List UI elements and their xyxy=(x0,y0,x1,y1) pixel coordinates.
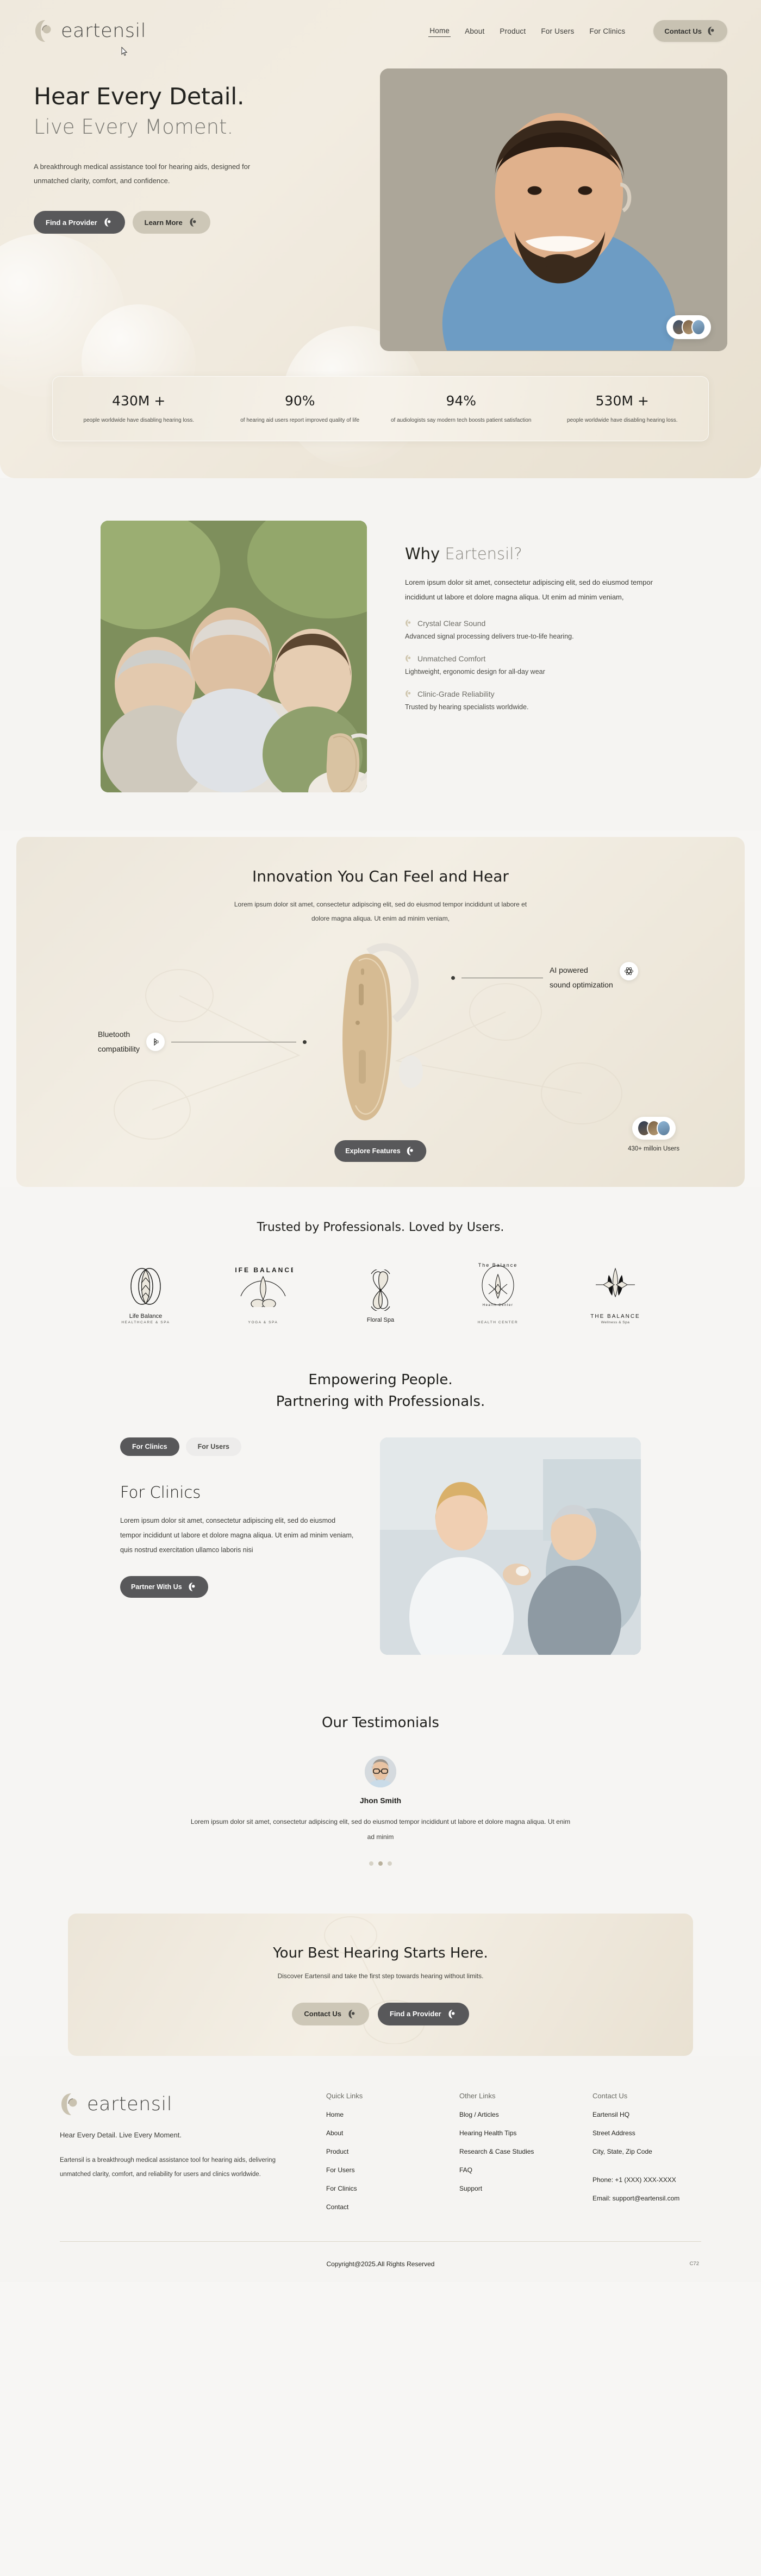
stat-label: of audiologists say modern tech boosts p… xyxy=(387,415,535,426)
footer-link-research-case-studies[interactable]: Research & Case Studies xyxy=(459,2148,565,2155)
leader-dot xyxy=(451,976,455,980)
brand-logo-row: Life Balance HEALTHCARE & SPA LIFE BALAN… xyxy=(0,1260,761,1324)
empowering-body: For Clinics For Users For Clinics Lorem … xyxy=(0,1437,761,1655)
why-title-light: Eartensil? xyxy=(445,545,522,563)
footer-contact-hq: Eartensil HQ xyxy=(592,2111,698,2118)
footer-page-code: C72 xyxy=(690,2261,699,2267)
testimonial-author-name: Jhon Smith xyxy=(0,1796,761,1805)
floral-spa-butterfly-logo-icon xyxy=(359,1270,402,1311)
audience-tabs: For Clinics For Users xyxy=(120,1437,354,1456)
empowering-heading: Empowering People. Partnering with Profe… xyxy=(0,1369,761,1413)
footer-link-for-users[interactable]: For Users xyxy=(326,2166,432,2174)
brand-name: Floral Spa xyxy=(345,1317,416,1323)
the-balance-flower-logo-icon xyxy=(592,1267,638,1308)
find-a-provider-label: Find a Provider xyxy=(46,218,97,227)
logo[interactable]: eartensil xyxy=(34,18,146,43)
hero-body: Hear Every Detail. Live Every Moment. A … xyxy=(0,43,761,351)
partner-with-us-button[interactable]: Partner With Us xyxy=(120,1576,208,1598)
empowering-heading-line1: Empowering People. xyxy=(308,1372,452,1388)
footer-contact-email[interactable]: Email: support@eartensil.com xyxy=(592,2194,698,2202)
footer-link-product[interactable]: Product xyxy=(326,2148,432,2155)
page-footer: eartensil Hear Every Detail. Live Every … xyxy=(0,2056,761,2282)
eartensil-ear-logo-icon xyxy=(707,26,716,36)
footer-column-heading: Quick Links xyxy=(326,2092,432,2100)
avatar xyxy=(691,319,706,335)
nav-item-for-users[interactable]: For Users xyxy=(540,26,575,37)
footer-column-heading: Other Links xyxy=(459,2092,565,2100)
testimonial-quote: Lorem ipsum dolor sit amet, consectetur … xyxy=(190,1815,571,1845)
explore-features-button[interactable]: Explore Features xyxy=(334,1140,426,1162)
carousel-dots xyxy=(0,1861,761,1866)
eartensil-ear-logo-icon xyxy=(188,1582,197,1592)
cta-zone: Your Best Hearing Starts Here. Discover … xyxy=(0,1895,761,2056)
brand-logo-item: THE BALANCE Wellness & Spa xyxy=(580,1267,651,1324)
callout-bluetooth-text: Bluetooth compatibility xyxy=(98,1027,140,1057)
innovation-section: Innovation You Can Feel and Hear Lorem i… xyxy=(16,837,745,1187)
eartensil-ear-logo-icon xyxy=(405,690,413,698)
bluetooth-chip xyxy=(146,1033,165,1051)
cta-contact-us-button[interactable]: Contact Us xyxy=(292,2003,369,2025)
innovation-heading: Innovation You Can Feel and Hear xyxy=(16,867,745,885)
brand-logo-item: The Balance Health Center The Balance HE… xyxy=(463,1260,533,1324)
eartensil-ear-logo-icon xyxy=(405,619,413,627)
brand-name: THE BALANCE xyxy=(580,1314,651,1320)
stat-value: 430M + xyxy=(65,393,213,409)
stat-label: people worldwide have disabling hearing … xyxy=(65,415,213,426)
why-title: Why Eartensil? xyxy=(405,545,660,563)
why-feature-title: Clinic-Grade Reliability xyxy=(417,690,495,698)
innovation-stage: Bluetooth compatibility AI powered sound… xyxy=(16,930,745,1164)
hero-buttons: Find a Provider Learn More xyxy=(34,211,359,234)
stat-value: 94% xyxy=(387,393,535,409)
cta-subtext: Discover Eartensil and take the first st… xyxy=(68,1972,693,1980)
footer-link-support[interactable]: Support xyxy=(459,2185,565,2192)
avatar xyxy=(657,1120,671,1136)
footer-contact-city: City, State, Zip Code xyxy=(592,2148,698,2155)
why-feature-head: Clinic-Grade Reliability xyxy=(405,690,660,698)
why-feature-desc: Lightweight, ergonomic design for all-da… xyxy=(405,668,660,676)
users-badge: 430+ milloin Users xyxy=(628,1117,679,1152)
footer-copyright: Copyright@2025.All Rights Reserved xyxy=(327,2260,435,2268)
testimonial-author-photo xyxy=(365,1756,396,1787)
footer-link-faq[interactable]: FAQ xyxy=(459,2166,565,2174)
svg-text:The Balance: The Balance xyxy=(478,1262,518,1268)
testimonials-heading: Our Testimonials xyxy=(0,1715,761,1731)
footer-tagline: Hear Every Detail. Live Every Moment. xyxy=(60,2131,299,2139)
carousel-dot[interactable] xyxy=(369,1861,373,1866)
tab-for-users[interactable]: For Users xyxy=(186,1437,241,1456)
why-title-strong: Why xyxy=(405,545,445,563)
cta-contact-us-label: Contact Us xyxy=(304,2010,341,2018)
cta-find-a-provider-button[interactable]: Find a Provider xyxy=(378,2003,469,2025)
eartensil-ear-logo-icon xyxy=(348,2009,357,2019)
why-paragraph: Lorem ipsum dolor sit amet, consectetur … xyxy=(405,575,660,605)
footer-brand-block: eartensil Hear Every Detail. Live Every … xyxy=(60,2092,299,2211)
stat-value: 90% xyxy=(226,393,375,409)
clinic-consultation-photo xyxy=(380,1437,641,1655)
ai-chip xyxy=(620,962,638,980)
eartensil-ear-logo-icon xyxy=(407,1146,416,1156)
stat-value: 530M + xyxy=(548,393,697,409)
hero-section: eartensil Home About Product For Users F… xyxy=(0,0,761,478)
users-caption: 430+ milloin Users xyxy=(628,1146,679,1152)
callout-ai-line1: AI powered xyxy=(550,963,613,978)
footer-column-other-links: Other Links Blog / Articles Hearing Heal… xyxy=(459,2092,565,2211)
footer-logo[interactable]: eartensil xyxy=(60,2092,299,2117)
why-feature-head: Crystal Clear Sound xyxy=(405,619,660,628)
life-balance-leaf-logo-icon xyxy=(126,1266,166,1307)
eartensil-ear-logo-icon xyxy=(104,217,113,227)
trusted-heading: Trusted by Professionals. Loved by Users… xyxy=(0,1221,761,1234)
hero-portrait-photo xyxy=(380,68,727,351)
explore-features-label: Explore Features xyxy=(345,1147,400,1155)
why-feature-title: Unmatched Comfort xyxy=(417,654,485,663)
innovation-subtitle: Lorem ipsum dolor sit amet, consectetur … xyxy=(228,897,533,926)
why-feature-head: Unmatched Comfort xyxy=(405,654,660,663)
brand-logo-item: LIFE BALANCE LIFE BALANCE YOGA & SPA xyxy=(228,1260,298,1324)
footer-link-contact[interactable]: Contact xyxy=(326,2203,432,2211)
empowering-heading-line2: Partnering with Professionals. xyxy=(276,1393,485,1410)
svg-text:LIFE BALANCE: LIFE BALANCE xyxy=(233,1266,293,1274)
smiling-man-photo xyxy=(380,68,727,351)
top-navbar: eartensil Home About Product For Users F… xyxy=(0,0,761,43)
learn-more-label: Learn More xyxy=(145,218,183,227)
hero-avatar-group xyxy=(666,315,711,339)
footer-column-quick-links: Quick Links Home About Product For Users… xyxy=(326,2092,432,2211)
logo-text: eartensil xyxy=(61,20,146,42)
stat-item: 530M + people worldwide have disabling h… xyxy=(542,393,703,426)
brand-name: Life Balance xyxy=(110,1313,181,1320)
nav-item-about[interactable]: About xyxy=(464,26,485,37)
footer-link-hearing-health-tips[interactable]: Hearing Health Tips xyxy=(459,2129,565,2137)
tab-for-clinics[interactable]: For Clinics xyxy=(120,1437,179,1456)
callout-ai: AI powered sound optimization xyxy=(451,963,638,993)
why-section: Why Eartensil? Lorem ipsum dolor sit ame… xyxy=(0,478,761,830)
life-balance-arch-logo-icon: LIFE BALANCE xyxy=(233,1260,293,1307)
hearing-aid-product-image xyxy=(304,936,457,1142)
brand-sub: HEALTHCARE & SPA xyxy=(110,1321,181,1324)
leader-line xyxy=(461,978,543,978)
footer-link-blog-articles[interactable]: Blog / Articles xyxy=(459,2111,565,2118)
ai-atom-icon xyxy=(624,966,634,976)
brand-sub: HEALTH CENTER xyxy=(463,1321,533,1324)
stat-item: 90% of hearing aid users report improved… xyxy=(220,393,381,426)
why-feature-title: Crystal Clear Sound xyxy=(417,619,485,628)
footer-link-for-clinics[interactable]: For Clinics xyxy=(326,2185,432,2192)
partner-with-us-label: Partner With Us xyxy=(131,1583,182,1591)
trusted-logos-section: Trusted by Professionals. Loved by Users… xyxy=(0,1187,761,1341)
svg-text:Health Center: Health Center xyxy=(483,1304,514,1307)
panel-title: For Clinics xyxy=(120,1483,354,1502)
hero-heading: Hear Every Detail. xyxy=(34,84,359,111)
nav-links: Home About Product For Users For Clinics… xyxy=(428,20,727,42)
hero-paragraph: A breakthrough medical assistance tool f… xyxy=(34,160,251,188)
users-avatar-group xyxy=(632,1117,676,1140)
callout-bluetooth-line1: Bluetooth xyxy=(98,1027,140,1042)
callout-ai-text: AI powered sound optimization xyxy=(550,963,613,993)
footer-logo-text: eartensil xyxy=(87,2093,172,2115)
why-feature: Clinic-Grade Reliability Trusted by hear… xyxy=(405,690,660,711)
footer-description: Eartensil is a breakthrough medical assi… xyxy=(60,2153,283,2182)
footer-columns: eartensil Hear Every Detail. Live Every … xyxy=(0,2092,761,2211)
footer-column-contact: Contact Us Eartensil HQ Street Address C… xyxy=(592,2092,698,2211)
callout-ai-line2: sound optimization xyxy=(550,978,613,992)
bluetooth-icon xyxy=(151,1037,160,1046)
contact-us-button[interactable]: Contact Us xyxy=(653,20,727,42)
eartensil-ear-logo-icon xyxy=(34,18,57,43)
mouse-cursor-icon xyxy=(121,47,128,57)
stat-item: 94% of audiologists say modern tech boos… xyxy=(380,393,542,426)
why-feature: Crystal Clear Sound Advanced signal proc… xyxy=(405,619,660,640)
stat-label: people worldwide have disabling hearing … xyxy=(548,415,697,426)
contact-us-label: Contact Us xyxy=(664,27,702,35)
find-a-provider-button[interactable]: Find a Provider xyxy=(34,211,125,234)
footer-contact-street: Street Address xyxy=(592,2129,698,2137)
hearing-aid-device-icon xyxy=(295,706,367,792)
brand-sub: YOGA & SPA xyxy=(228,1321,298,1324)
panel-text: Lorem ipsum dolor sit amet, consectetur … xyxy=(120,1514,354,1558)
stat-item: 430M + people worldwide have disabling h… xyxy=(58,393,220,426)
footer-column-heading: Contact Us xyxy=(592,2092,698,2100)
carousel-dot[interactable] xyxy=(388,1861,392,1866)
eartensil-ear-logo-icon xyxy=(189,217,198,227)
cta-section: Your Best Hearing Starts Here. Discover … xyxy=(68,1914,693,2056)
footer-bottom-bar: Copyright@2025.All Rights Reserved C72 xyxy=(0,2242,761,2282)
learn-more-button[interactable]: Learn More xyxy=(133,211,210,234)
eartensil-ear-logo-icon xyxy=(60,2092,83,2117)
why-feature-desc: Advanced signal processing delivers true… xyxy=(405,633,660,640)
testimonials-section: Our Testimonials Jhon Smith Lorem ipsum … xyxy=(0,1677,761,1895)
why-content: Why Eartensil? Lorem ipsum dolor sit ame… xyxy=(405,521,660,792)
brand-logo-item: Floral Spa xyxy=(345,1270,416,1324)
why-feature-desc: Trusted by hearing specialists worldwide… xyxy=(405,703,660,711)
nav-item-product[interactable]: Product xyxy=(498,26,527,37)
hero-subheading: Live Every Moment. xyxy=(34,115,359,139)
empowering-section: Empowering People. Partnering with Profe… xyxy=(0,1341,761,1677)
cta-buttons: Contact Us Find a Provider xyxy=(68,2003,693,2025)
hero-copy: Hear Every Detail. Live Every Moment. A … xyxy=(34,68,359,351)
eartensil-ear-logo-icon xyxy=(405,654,413,662)
why-family-photo xyxy=(101,521,367,792)
callout-bluetooth: Bluetooth compatibility xyxy=(98,1027,307,1057)
footer-link-home[interactable]: Home xyxy=(326,2111,432,2118)
brand-sub: Wellness & Spa xyxy=(580,1321,651,1324)
empowering-panel: For Clinics For Users For Clinics Lorem … xyxy=(120,1437,354,1655)
brand-logo-item: Life Balance HEALTHCARE & SPA xyxy=(110,1266,181,1324)
leader-dot xyxy=(303,1040,307,1044)
the-balance-circle-logo-icon: The Balance Health Center xyxy=(475,1260,521,1307)
leader-line xyxy=(171,1042,296,1042)
stat-label: of hearing aid users report improved qua… xyxy=(226,415,375,426)
testimonial-avatar xyxy=(365,1756,396,1787)
clinician-with-patient-photo xyxy=(380,1437,641,1655)
nav-item-home[interactable]: Home xyxy=(428,25,451,37)
why-feature: Unmatched Comfort Lightweight, ergonomic… xyxy=(405,654,660,676)
callout-bluetooth-line2: compatibility xyxy=(98,1042,140,1056)
nav-item-for-clinics[interactable]: For Clinics xyxy=(588,26,626,37)
cta-heading: Your Best Hearing Starts Here. xyxy=(68,1945,693,1961)
footer-contact-phone[interactable]: Phone: +1 (XXX) XXX-XXXX xyxy=(592,2176,698,2184)
eartensil-ear-logo-icon xyxy=(448,2009,457,2019)
carousel-dot-active[interactable] xyxy=(378,1861,383,1866)
stats-bar: 430M + people worldwide have disabling h… xyxy=(52,376,709,442)
cta-find-a-provider-label: Find a Provider xyxy=(390,2010,441,2018)
footer-link-about[interactable]: About xyxy=(326,2129,432,2137)
